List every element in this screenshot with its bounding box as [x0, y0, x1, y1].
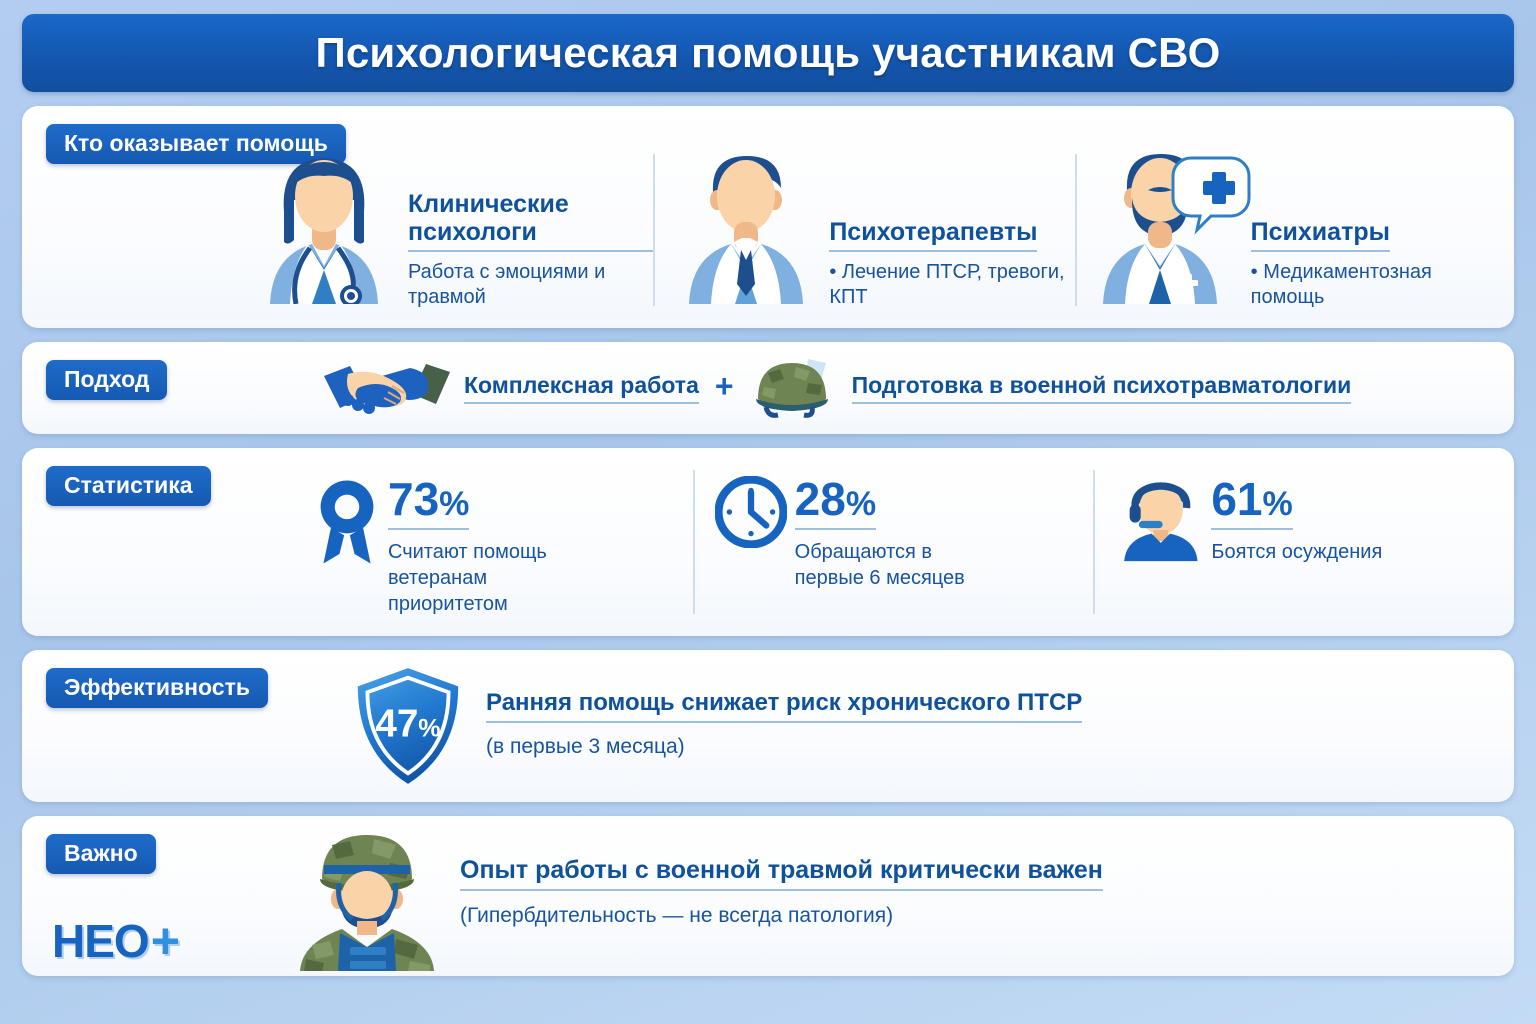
- important-text: Опыт работы с военной травмой критически…: [460, 856, 1103, 936]
- male-psychotherapist-icon: [671, 134, 819, 318]
- stat-body: 28% Обращаются в первые 6 месяцев: [795, 476, 1005, 591]
- handshake-icon: [322, 358, 452, 418]
- stat-label: Обращаются в первые 6 месяцев: [795, 539, 1005, 591]
- bearded-psychiatrist-icon: [1093, 134, 1241, 318]
- provider-desc: • Лечение ПТСР, тревоги, КПТ: [829, 260, 1074, 310]
- stat-unit: %: [846, 485, 876, 523]
- stat-number: 73: [388, 473, 439, 525]
- plus-sign: +: [711, 368, 738, 409]
- stat-label: Боятся осуждения: [1211, 539, 1382, 565]
- ribbon-award-icon: [314, 476, 380, 568]
- section-providers: Кто оказывает помощь: [22, 106, 1514, 328]
- provider-title: Психиатры: [1251, 218, 1390, 252]
- brand-logo: НЕО+: [52, 916, 179, 966]
- section-effectiveness: Эффективность 47% Ранн: [22, 650, 1514, 802]
- badge-statistics: Статистика: [46, 466, 211, 506]
- provider-card-psychiatrist: Психиатры • Медикаментозная помощь: [1075, 134, 1496, 318]
- section-statistics: Статистика 73% Считают помощь ветеранам …: [22, 448, 1514, 636]
- providers-list: Клинические психологи Работа с эмоциями …: [232, 134, 1496, 318]
- bullet-dot: •: [829, 261, 842, 283]
- provider-desc-text: Лечение ПТСР, тревоги, КПТ: [829, 261, 1064, 308]
- stat-value: 61%: [1211, 478, 1292, 530]
- stat-unit: %: [1263, 485, 1293, 523]
- provider-desc: • Медикаментозная помощь: [1251, 260, 1496, 310]
- logo-text: НЕО: [52, 918, 149, 964]
- effectiveness-title: Ранняя помощь снижает риск хронического …: [486, 689, 1082, 723]
- provider-desc-text: Медикаментозная помощь: [1251, 261, 1432, 308]
- effectiveness-text: Ранняя помощь снижает риск хронического …: [486, 689, 1082, 763]
- stat-label: Считают помощь ветеранам приоритетом: [388, 539, 598, 617]
- important-row: Опыт работы с военной травмой критически…: [292, 816, 1494, 976]
- provider-text: Психиатры • Медикаментозная помощь: [1251, 218, 1496, 318]
- stat-body: 73% Считают помощь ветеранам приоритетом: [388, 476, 598, 617]
- provider-desc: Работа с эмоциями и травмой: [408, 260, 653, 310]
- approach-row: Комплексная работа +: [322, 342, 1494, 434]
- infographic-page: Психологическая помощь участникам СВО Кт…: [0, 0, 1536, 1024]
- military-helmet-icon: [750, 357, 840, 419]
- effectiveness-row: 47% Ранняя помощь снижает риск хроническ…: [352, 650, 1494, 802]
- stat-body: 61% Боятся осуждения: [1211, 476, 1382, 565]
- important-subtitle: (Гипербдительность — не всегда патология…: [460, 904, 1103, 928]
- approach-left-text: Комплексная работа: [464, 372, 699, 404]
- badge-effectiveness: Эффективность: [46, 668, 268, 708]
- provider-text: Психотерапевты • Лечение ПТСР, тревоги, …: [829, 218, 1074, 318]
- person-headset-icon: [1115, 476, 1203, 562]
- provider-card-clinical-psychologist: Клинические психологи Работа с эмоциями …: [232, 134, 653, 318]
- provider-text: Клинические психологи Работа с эмоциями …: [408, 190, 653, 318]
- logo-plus: +: [151, 916, 179, 966]
- stat-number: 61: [1211, 473, 1262, 525]
- section-important: Важно НЕО+: [22, 816, 1514, 976]
- clock-icon: [715, 476, 787, 548]
- soldier-icon: [292, 821, 442, 971]
- page-title: Психологическая помощь участникам СВО: [315, 29, 1220, 77]
- provider-title: Психотерапевты: [829, 218, 1037, 252]
- stat-card-stigma: 61% Боятся осуждения: [1093, 460, 1494, 628]
- stat-value: 73%: [388, 478, 469, 530]
- stat-unit: %: [439, 485, 469, 523]
- stat-card-priority: 73% Считают помощь ветеранам приоритетом: [292, 460, 693, 628]
- provider-title: Клинические психологи: [408, 190, 653, 252]
- stat-card-first-months: 28% Обращаются в первые 6 месяцев: [693, 460, 1094, 628]
- effectiveness-subtitle: (в первые 3 месяца): [486, 735, 1082, 759]
- provider-card-psychotherapist: Психотерапевты • Лечение ПТСР, тревоги, …: [653, 134, 1074, 318]
- badge-approach: Подход: [46, 360, 167, 400]
- approach-right-text: Подготовка в военной психотравматологии: [852, 372, 1352, 404]
- header-banner: Психологическая помощь участникам СВО: [22, 14, 1514, 92]
- stat-number: 28: [795, 473, 846, 525]
- important-title: Опыт работы с военной травмой критически…: [460, 856, 1103, 891]
- badge-important: Важно: [46, 834, 156, 874]
- section-approach: Подход: [22, 342, 1514, 434]
- statistics-list: 73% Считают помощь ветеранам приоритетом: [292, 460, 1494, 628]
- shield-icon: 47%: [352, 665, 464, 787]
- stat-value: 28%: [795, 478, 876, 530]
- female-clinical-psychologist-icon: [250, 134, 398, 318]
